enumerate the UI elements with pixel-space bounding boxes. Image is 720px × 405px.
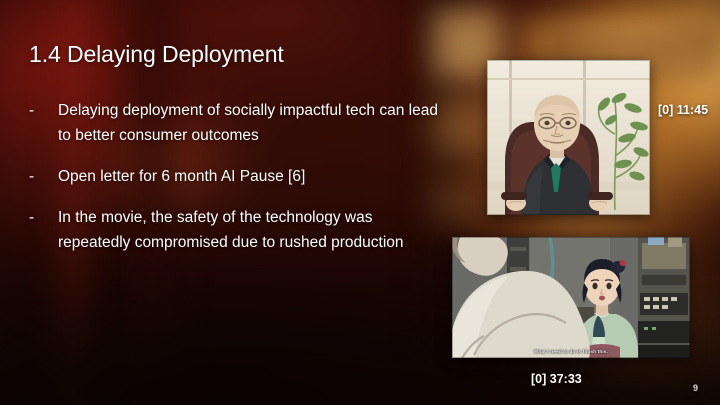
workshop-scene-illustration [452, 237, 690, 358]
bullet-list: - Delaying deployment of socially impact… [29, 98, 449, 271]
elderly-executive-illustration [487, 60, 650, 215]
bullet-item: - In the movie, the safety of the techno… [29, 205, 449, 255]
bullet-item: - Open letter for 6 month AI Pause [6] [29, 164, 449, 189]
bullet-marker: - [29, 205, 58, 255]
bullet-marker: - [29, 98, 58, 148]
bullet-text: Open letter for 6 month AI Pause [6] [58, 164, 305, 189]
bullet-item: - Delaying deployment of socially impact… [29, 98, 449, 148]
media-timecode-bottom: [0] 37:33 [531, 372, 582, 386]
presentation-slide: 1.4 Delaying Deployment - Delaying deplo… [0, 0, 720, 405]
media-thumbnail-elderly-executive[interactable] [487, 60, 650, 215]
media-subtitle: What I need to do is finish this. [452, 349, 690, 354]
media-timecode-top: [0] 11:45 [658, 103, 708, 117]
media-thumbnail-workshop[interactable]: What I need to do is finish this. [452, 237, 690, 358]
bullet-text: In the movie, the safety of the technolo… [58, 205, 449, 255]
bullet-text: Delaying deployment of socially impactfu… [58, 98, 449, 148]
bullet-marker: - [29, 164, 58, 189]
page-number: 9 [693, 383, 698, 393]
slide-title: 1.4 Delaying Deployment [29, 42, 284, 67]
